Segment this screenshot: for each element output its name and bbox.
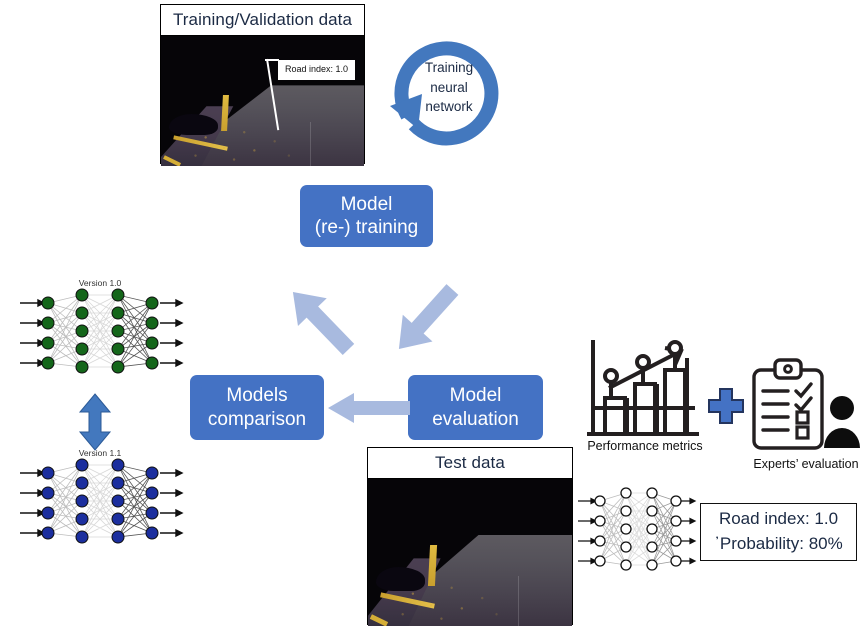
version-bottom-text: Version 1.1 [79, 448, 122, 458]
experts-evaluation-caption: Experts’ evaluation [738, 458, 864, 471]
test-data-image [368, 479, 572, 626]
network-version-1-1-label: Version 1.1 [14, 449, 186, 458]
arrow-evaluation-to-comparison [326, 392, 410, 424]
road-index-annotation: Road index: 1.0 [278, 60, 355, 80]
annotation-leader-tick [265, 59, 279, 61]
network-graph-prediction [576, 487, 696, 583]
training-cycle-group: Training neural network [388, 28, 510, 150]
arrow-comparison-to-training [280, 275, 360, 365]
prediction-probability: ᾽Probability: 80% [714, 532, 843, 557]
training-validation-title: Training/Validation data [161, 5, 364, 36]
models-comparison-line2: comparison [208, 408, 306, 431]
model-retraining-line1: Model [315, 193, 418, 216]
models-comparison-box[interactable]: Models comparison [190, 375, 324, 440]
performance-metrics-label: Performance metrics [587, 439, 702, 453]
model-evaluation-line2: evaluation [432, 408, 519, 431]
double-headed-vertical-arrow-icon [74, 392, 116, 452]
version-top-text: Version 1.0 [79, 278, 122, 288]
road-gravel-texture [161, 36, 364, 166]
network-graph-blue [14, 459, 186, 555]
road-scene-training [161, 36, 364, 166]
network-version-1-1: Version 1.1 [14, 449, 186, 555]
prediction-road-index: Road index: 1.0 [719, 507, 838, 532]
plus-icon [706, 386, 746, 426]
road-scene-test [368, 479, 572, 626]
experts-evaluation-label: Experts’ evaluation [753, 457, 858, 471]
experts-evaluation-group: Experts’ evaluation [748, 358, 864, 458]
prediction-network [576, 487, 696, 583]
prediction-result-box: Road index: 1.0 ᾽Probability: 80% [700, 503, 857, 561]
test-data-panel: Test data [367, 447, 573, 625]
network-graph-green [14, 289, 186, 385]
road-gravel-texture-test [368, 479, 572, 626]
training-validation-panel: Training/Validation data Road index: 1.0 [160, 4, 365, 164]
models-comparison-line1: Models [208, 384, 306, 407]
road-index-annotation-label: Road index: 1.0 [285, 64, 348, 74]
plus-combiner [706, 386, 746, 426]
training-cycle-label: Training neural network [388, 58, 510, 117]
training-cycle-line1: Training [388, 58, 510, 78]
training-validation-image: Road index: 1.0 [161, 36, 364, 166]
network-version-1-0-label: Version 1.0 [14, 279, 186, 288]
model-evaluation-box[interactable]: Model evaluation [408, 375, 543, 440]
training-cycle-line2: neural [388, 78, 510, 98]
model-retraining-box[interactable]: Model (re-) training [300, 185, 433, 247]
model-evaluation-line1: Model [432, 384, 519, 407]
version-compare-double-arrow [74, 392, 116, 452]
training-cycle-line3: network [388, 97, 510, 117]
performance-metrics-caption: Performance metrics [575, 440, 715, 453]
performance-metrics-group: Performance metrics [583, 336, 705, 456]
clipboard-checklist-icon [748, 358, 864, 458]
model-retraining-line2: (re-) training [315, 216, 418, 239]
network-version-1-0: Version 1.0 [14, 279, 186, 385]
arrow-training-to-evaluation [385, 275, 465, 365]
test-data-title: Test data [368, 448, 572, 479]
bar-chart-trend-icon [583, 336, 705, 440]
